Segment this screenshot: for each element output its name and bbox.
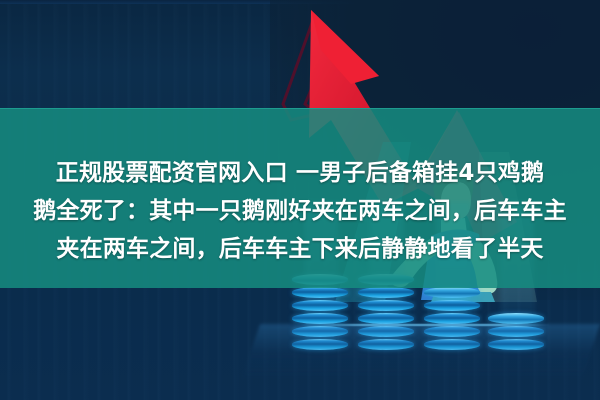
coin-floor-reflection <box>241 324 600 382</box>
screenshot-canvas: 正规股票配资官网入口 一男子后备箱挂4只鸡鹅 鹅全死了：其中一只鹅刚好夹在两车之… <box>0 0 600 400</box>
caption-line-3: 夹在两车之间，后车车主下来后静静地看了半天 <box>0 230 600 268</box>
caption-text-block: 正规股票配资官网入口 一男子后备箱挂4只鸡鹅 鹅全死了：其中一只鹅刚好夹在两车之… <box>0 108 600 288</box>
caption-line-1: 正规股票配资官网入口 一男子后备箱挂4只鸡鹅 <box>0 154 600 192</box>
caption-line-2: 鹅全死了：其中一只鹅刚好夹在两车之间，后车车主 <box>0 192 600 230</box>
